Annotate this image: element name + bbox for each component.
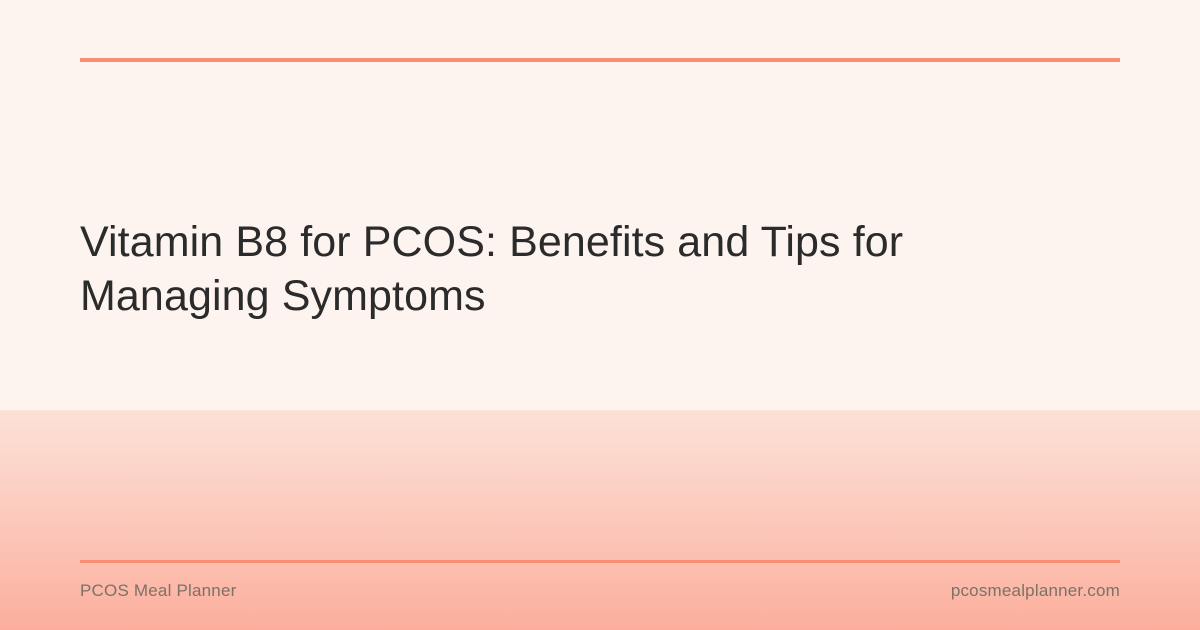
page-title: Vitamin B8 for PCOS: Benefits and Tips f… [80,215,1040,323]
footer-site-url: pcosmealplanner.com [951,580,1120,602]
footer-brand-name: PCOS Meal Planner [80,580,236,602]
footer: PCOS Meal Planner pcosmealplanner.com [80,580,1120,602]
top-accent-rule [80,58,1120,62]
footer-accent-rule [80,560,1120,563]
title-block: Vitamin B8 for PCOS: Benefits and Tips f… [80,215,1040,323]
share-card: Vitamin B8 for PCOS: Benefits and Tips f… [0,0,1200,630]
